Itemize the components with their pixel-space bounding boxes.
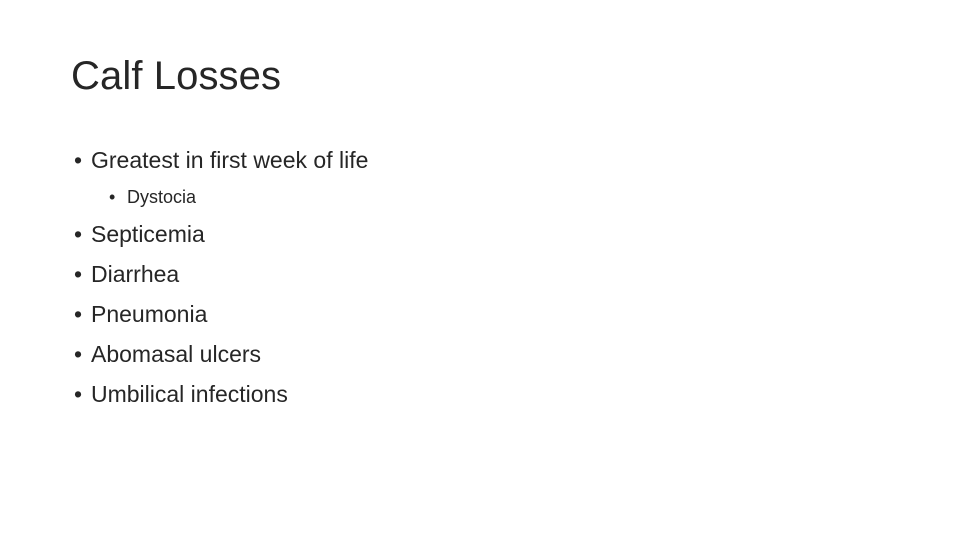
bullet-marker-icon: • [74,334,82,374]
bullet-list: • Greatest in first week of life • Dysto… [71,140,901,414]
list-item[interactable]: • Diarrhea [71,254,901,294]
bullet-marker-icon: • [109,180,115,214]
presentation-slide: Calf Losses • Greatest in first week of … [0,0,960,540]
list-item-label: Dystocia [127,180,196,214]
list-item-label: Pneumonia [91,294,207,334]
list-item[interactable]: • Pneumonia [71,294,901,334]
bullet-marker-icon: • [74,140,82,180]
bullet-marker-icon: • [74,214,82,254]
list-item[interactable]: • Septicemia [71,214,901,254]
list-item[interactable]: • Greatest in first week of life [71,140,901,180]
list-item[interactable]: • Abomasal ulcers [71,334,901,374]
list-item-label: Greatest in first week of life [91,140,368,180]
list-item-label: Abomasal ulcers [91,334,261,374]
bullet-marker-icon: • [74,294,82,334]
bullet-marker-icon: • [74,374,82,414]
list-item-label: Diarrhea [91,254,179,294]
list-item[interactable]: • Dystocia [71,180,901,214]
list-item-label: Septicemia [91,214,205,254]
list-item[interactable]: • Umbilical infections [71,374,901,414]
bullet-marker-icon: • [74,254,82,294]
list-item-label: Umbilical infections [91,374,288,414]
page-title: Calf Losses [71,52,891,100]
